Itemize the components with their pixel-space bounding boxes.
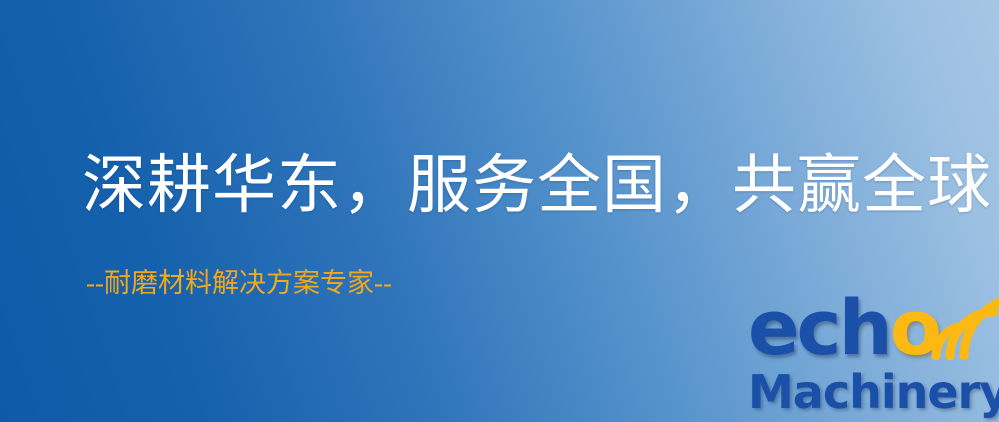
logo-subwordmark-text: Machinery [748,365,999,419]
hero-banner: 深耕华东，服务全国，共赢全球 --耐磨材料解决方案专家-- echo Machi… [0,0,999,422]
banner-headline: 深耕华东，服务全国，共赢全球 [82,150,992,222]
logo-wordmark-prefix: ech [748,283,890,372]
banner-subtitle: --耐磨材料解决方案专家-- [86,266,392,300]
logo-subwordmark: Machinery® [748,362,999,417]
logo-wordmark-row: echo [744,296,999,370]
echo-waves-icon [920,294,999,360]
echo-machinery-logo[interactable]: echo Machinery® [744,296,999,422]
logo-wordmark: echo [748,290,939,366]
